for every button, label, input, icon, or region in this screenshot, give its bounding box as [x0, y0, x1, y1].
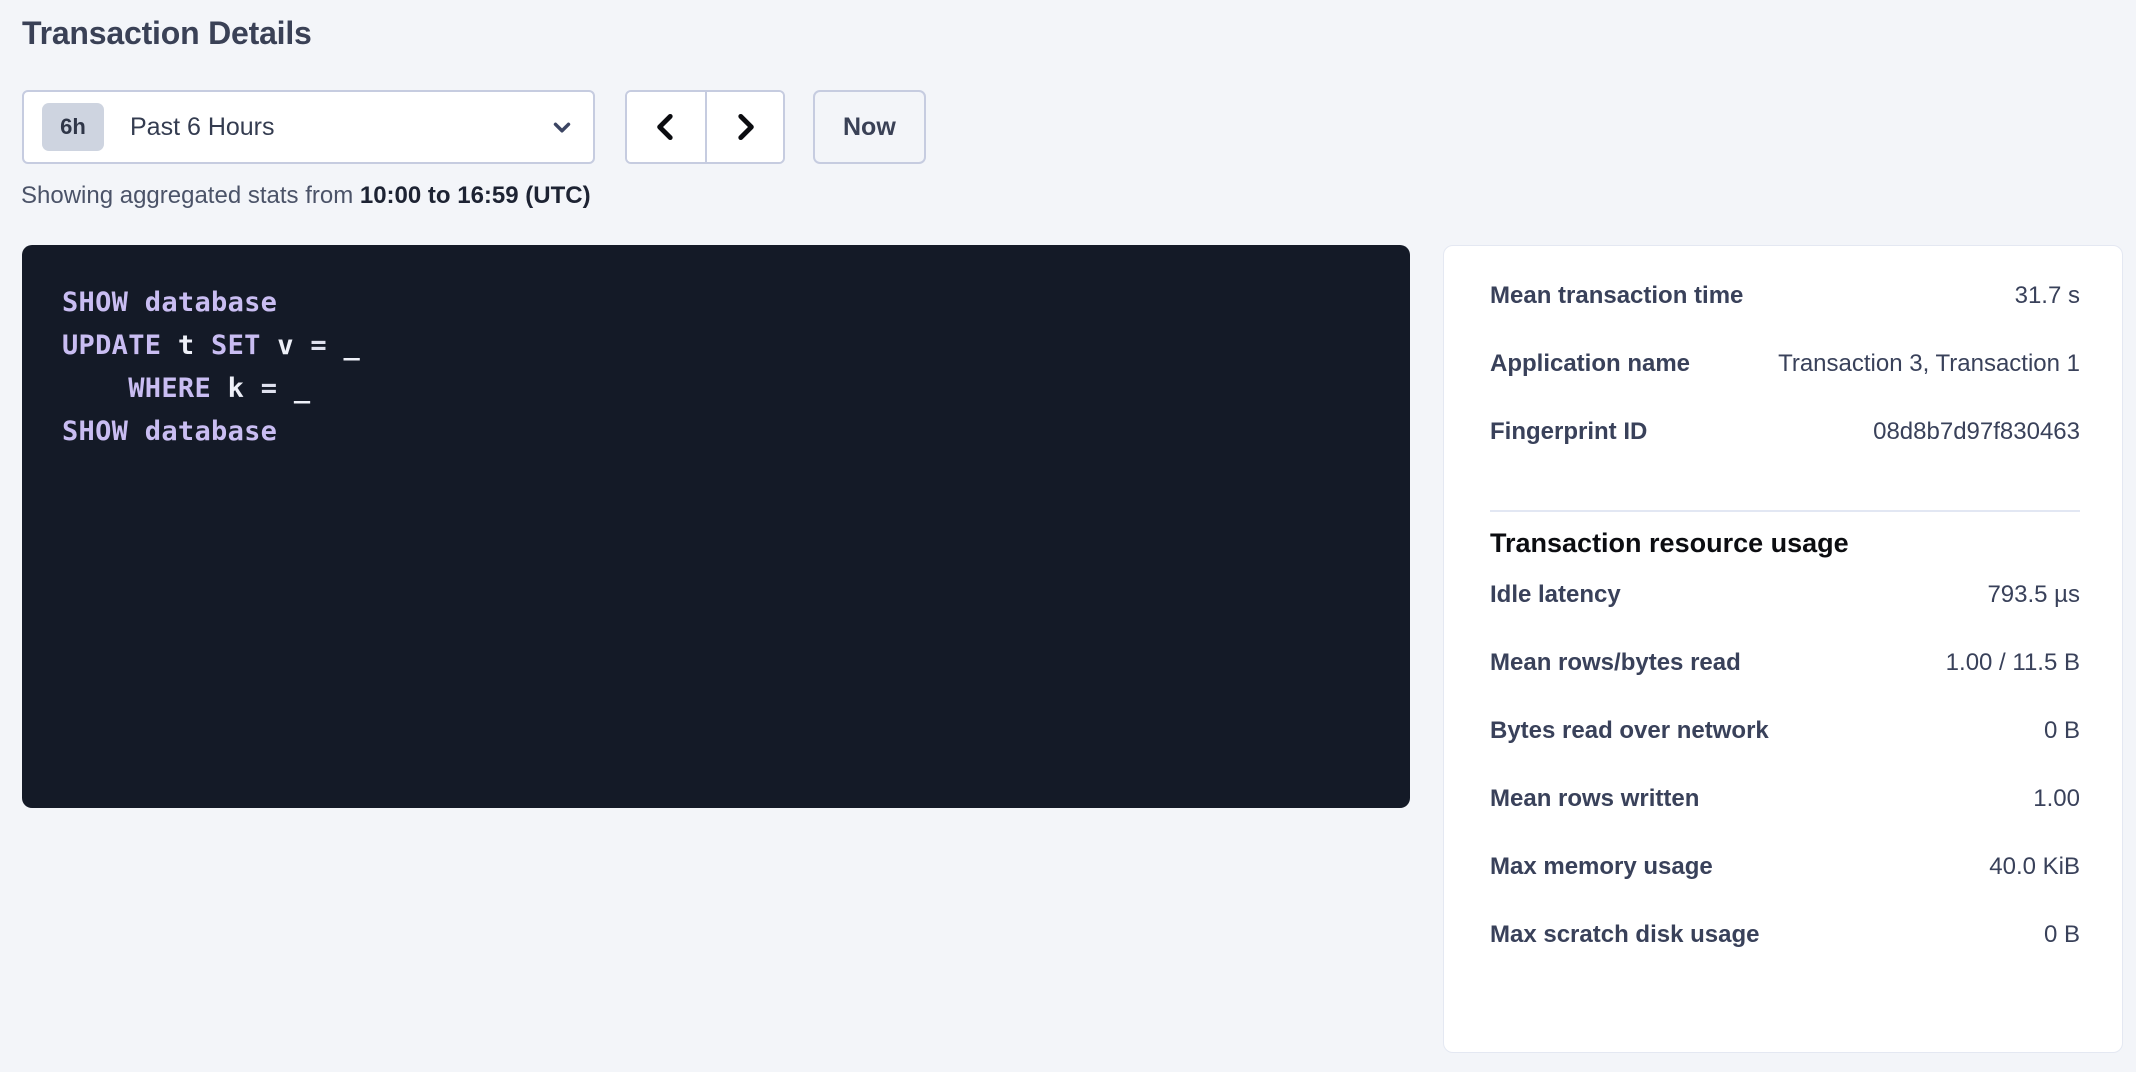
time-range-select[interactable]: 6h Past 6 Hours — [22, 90, 595, 164]
chevron-right-icon — [728, 110, 762, 144]
code-token — [327, 330, 344, 361]
code-token — [128, 287, 145, 318]
code-token: SHOW — [62, 416, 128, 447]
code-token — [294, 330, 311, 361]
stat-value: 793.5 µs — [1969, 581, 2080, 609]
resource-usage-title: Transaction resource usage — [1490, 528, 2080, 559]
stat-value: 0 B — [2026, 921, 2080, 949]
stat-value: 1.00 / 11.5 B — [1928, 649, 2080, 677]
stat-row: Idle latency793.5 µs — [1490, 581, 2080, 649]
code-token: _ — [294, 373, 311, 404]
chevron-left-icon — [649, 110, 683, 144]
code-token: database — [145, 287, 277, 318]
page-title: Transaction Details — [22, 13, 312, 53]
code-token: database — [145, 416, 277, 447]
stat-row: Mean transaction time31.7 s — [1490, 282, 2080, 350]
overview-stats-list: Mean transaction time31.7 sApplication n… — [1490, 282, 2080, 486]
time-range-toolbar: 6h Past 6 Hours — [22, 90, 926, 164]
time-range-label: Past 6 Hours — [130, 113, 549, 142]
code-token: k — [228, 373, 245, 404]
stat-value: 0 B — [2026, 717, 2080, 745]
stat-row: Mean rows written1.00 — [1490, 785, 2080, 853]
code-token — [244, 373, 261, 404]
stat-value: 08d8b7d97f830463 — [1855, 418, 2080, 446]
code-token: v — [277, 330, 294, 361]
sql-code-block: SHOW database UPDATE t SET v = _ WHERE k… — [62, 281, 1370, 453]
time-range-badge: 6h — [42, 103, 104, 151]
subtitle-range: 10:00 to 16:59 (UTC) — [360, 182, 591, 209]
stat-label: Fingerprint ID — [1490, 418, 1647, 446]
stat-row: Bytes read over network0 B — [1490, 717, 2080, 785]
sql-code-panel[interactable]: SHOW database UPDATE t SET v = _ WHERE k… — [22, 245, 1410, 808]
code-token: UPDATE — [62, 330, 161, 361]
code-token: t — [178, 330, 195, 361]
code-token — [194, 330, 211, 361]
stat-label: Application name — [1490, 350, 1690, 378]
previous-period-button[interactable] — [627, 92, 705, 162]
stat-label: Max scratch disk usage — [1490, 921, 1759, 949]
stat-row: Application nameTransaction 3, Transacti… — [1490, 350, 2080, 418]
code-token — [62, 373, 128, 404]
code-token — [161, 330, 178, 361]
transaction-stats-card: Mean transaction time31.7 sApplication n… — [1443, 245, 2123, 1053]
stat-row: Max memory usage40.0 KiB — [1490, 853, 2080, 921]
aggregation-range-subtitle: Showing aggregated stats from 10:00 to 1… — [21, 182, 591, 210]
stat-label: Bytes read over network — [1490, 717, 1769, 745]
stat-row: Max scratch disk usage0 B — [1490, 921, 2080, 989]
stat-row: Fingerprint ID08d8b7d97f830463 — [1490, 418, 2080, 486]
stat-row: Mean rows/bytes read1.00 / 11.5 B — [1490, 649, 2080, 717]
code-token: = — [261, 373, 278, 404]
stat-value: 40.0 KiB — [1971, 853, 2080, 881]
stat-label: Mean transaction time — [1490, 282, 1743, 310]
stat-value: 1.00 — [2015, 785, 2080, 813]
stat-value: 31.7 s — [1997, 282, 2080, 310]
stat-value: Transaction 3, Transaction 1 — [1760, 350, 2080, 378]
subtitle-prefix: Showing aggregated stats from — [21, 182, 360, 209]
stats-divider — [1490, 510, 2080, 512]
code-token — [128, 416, 145, 447]
stat-label: Idle latency — [1490, 581, 1621, 609]
code-token: SET — [211, 330, 261, 361]
code-token — [211, 373, 228, 404]
code-token: WHERE — [128, 373, 211, 404]
code-token: _ — [344, 330, 361, 361]
code-token — [261, 330, 278, 361]
resource-stats-list: Idle latency793.5 µsMean rows/bytes read… — [1490, 581, 2080, 989]
code-token: SHOW — [62, 287, 128, 318]
transaction-details-page: Transaction Details 6h Past 6 Hours — [0, 0, 2136, 1072]
code-token: = — [310, 330, 327, 361]
next-period-button[interactable] — [705, 92, 783, 162]
code-token — [277, 373, 294, 404]
time-nav-group — [625, 90, 785, 164]
stat-label: Max memory usage — [1490, 853, 1713, 881]
now-button[interactable]: Now — [813, 90, 926, 164]
chevron-down-icon — [549, 114, 575, 140]
stat-label: Mean rows written — [1490, 785, 1699, 813]
stat-label: Mean rows/bytes read — [1490, 649, 1741, 677]
